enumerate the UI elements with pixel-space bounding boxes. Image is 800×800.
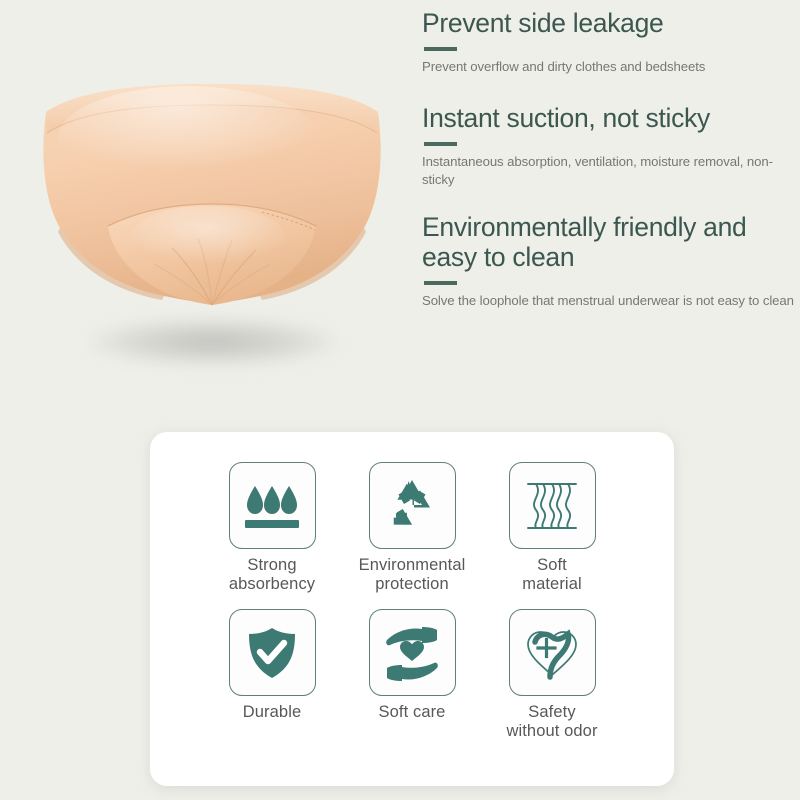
benefit-item-soft-care: Soft care: [342, 609, 482, 740]
benefit-item-strong-absorbency: Strong absorbency: [202, 462, 342, 593]
benefit-label: Soft care: [379, 703, 446, 722]
feature-block-eco-friendly: Environmentally friendly and easy to cle…: [422, 212, 794, 309]
accent-bar: [424, 281, 457, 285]
product-drop-shadow: [88, 318, 338, 366]
shield-check-icon: [244, 624, 300, 682]
benefit-icons-grid: Strong absorbency: [202, 462, 622, 741]
benefit-item-environmental-protection: Environmental protection: [342, 462, 482, 593]
benefit-label: Soft material: [522, 556, 582, 593]
icon-box: [369, 462, 456, 549]
icon-box: [369, 609, 456, 696]
heart-plus-icon: [523, 624, 581, 682]
icon-box: [509, 609, 596, 696]
benefit-item-durable: Durable: [202, 609, 342, 740]
benefit-item-safety-without-odor: Safety without odor: [482, 609, 622, 740]
feature-subtitle: Prevent overflow and dirty clothes and b…: [422, 58, 794, 76]
benefit-label: Environmental protection: [359, 556, 466, 593]
feature-heading: Environmentally friendly and easy to cle…: [422, 212, 794, 272]
recycling-icon: [383, 477, 441, 535]
benefit-label: Durable: [243, 703, 301, 722]
feature-subtitle: Instantaneous absorption, ventilation, m…: [422, 153, 794, 188]
icon-box: [229, 609, 316, 696]
feature-block-prevent-leakage: Prevent side leakage Prevent overflow an…: [422, 8, 794, 75]
benefit-item-soft-material: Soft material: [482, 462, 622, 593]
feature-block-instant-suction: Instant suction, not sticky Instantaneou…: [422, 103, 794, 188]
accent-bar: [424, 47, 457, 51]
underwear-product-image: [12, 60, 412, 315]
product-photo: [0, 0, 420, 420]
benefit-label: Strong absorbency: [229, 556, 315, 593]
feature-subtitle: Solve the loophole that menstrual underw…: [422, 292, 794, 310]
icon-box: [509, 462, 596, 549]
feature-text-column: Prevent side leakage Prevent overflow an…: [422, 8, 794, 316]
accent-bar: [424, 142, 457, 146]
icon-box: [229, 462, 316, 549]
soft-fabric-waves-icon: [523, 477, 581, 535]
hands-heart-icon: [382, 624, 442, 682]
benefit-icons-card: Strong absorbency: [150, 432, 674, 786]
feature-heading: Prevent side leakage: [422, 8, 794, 38]
benefit-label: Safety without odor: [506, 703, 597, 740]
feature-heading: Instant suction, not sticky: [422, 103, 794, 133]
water-drops-absorbency-icon: [242, 478, 302, 534]
